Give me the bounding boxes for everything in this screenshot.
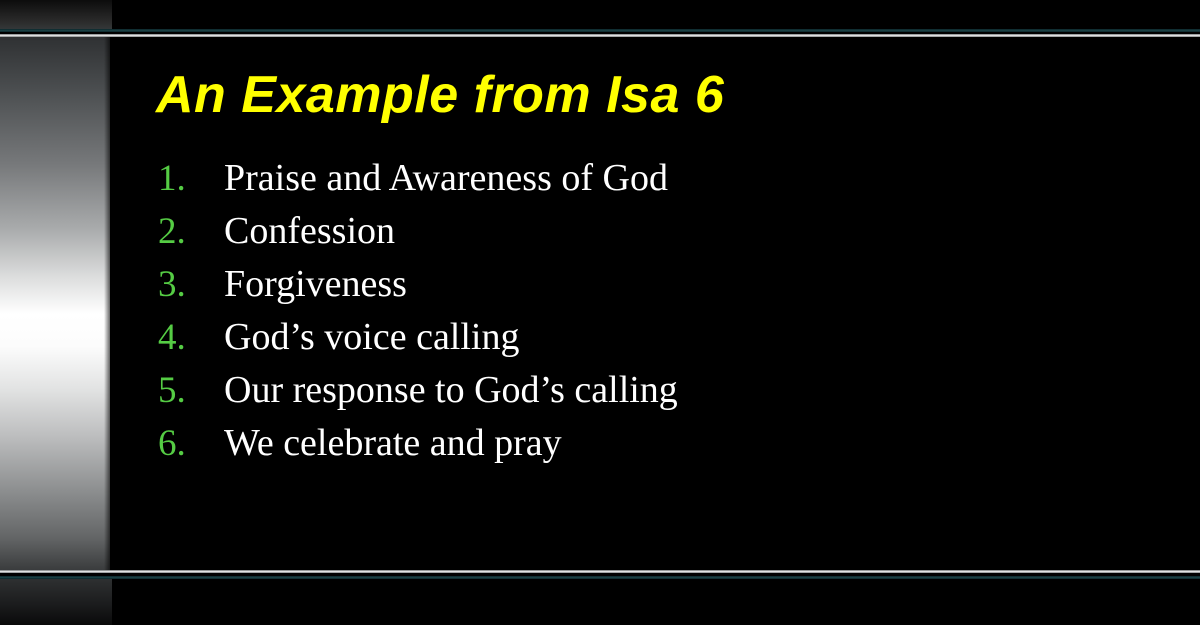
list-item-number: 3. [150,258,224,311]
slide-top-decoration [0,0,112,30]
top-white-rule [0,34,1200,37]
list-item: 4. God’s voice calling [150,311,1170,364]
list-item-text: Forgiveness [224,258,1170,311]
list-item: 2. Confession [150,205,1170,258]
slide-bottom-decoration [0,579,112,625]
list-item: 3. Forgiveness [150,258,1170,311]
list-item-number: 5. [150,364,224,417]
list-item: 5. Our response to God’s calling [150,364,1170,417]
list-item-text: Praise and Awareness of God [224,152,1170,205]
left-gradient-sidebar [0,37,110,570]
list-item-number: 2. [150,205,224,258]
bottom-teal-rule [0,576,1200,579]
list-item-text: Confession [224,205,1170,258]
list-item-number: 1. [150,152,224,205]
list-item-text: Our response to God’s calling [224,364,1170,417]
bottom-white-rule [0,570,1200,573]
list-item: 6. We celebrate and pray [150,417,1170,470]
list-item: 1. Praise and Awareness of God [150,152,1170,205]
slide-title: An Example from Isa 6 [150,60,1170,130]
sidebar-shadow-edge [104,37,114,570]
list-item-number: 6. [150,417,224,470]
list-item-number: 4. [150,311,224,364]
numbered-list: 1. Praise and Awareness of God 2. Confes… [150,152,1170,470]
top-teal-rule [0,29,1200,32]
list-item-text: God’s voice calling [224,311,1170,364]
presentation-slide: An Example from Isa 6 1. Praise and Awar… [0,0,1200,625]
list-item-text: We celebrate and pray [224,417,1170,470]
slide-content: An Example from Isa 6 1. Praise and Awar… [150,60,1170,470]
